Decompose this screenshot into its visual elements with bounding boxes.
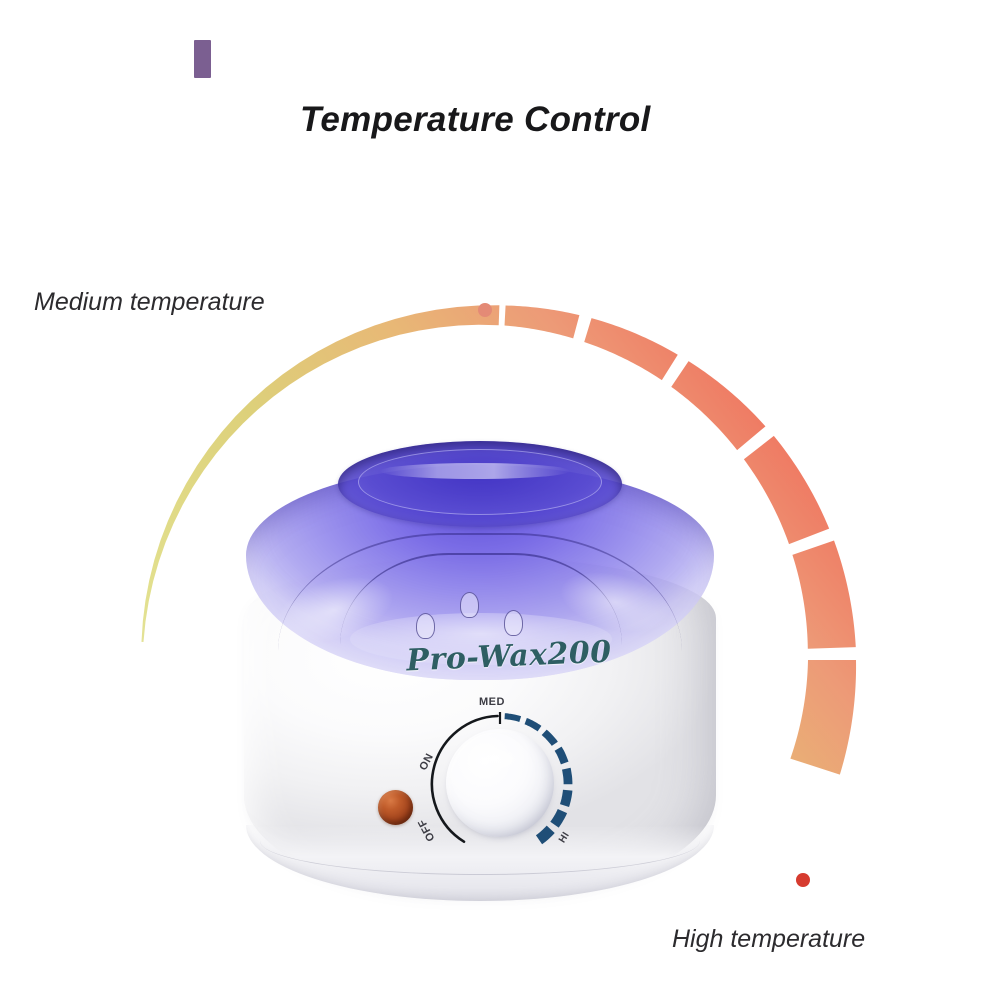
- lid-vent-right: [504, 610, 523, 636]
- seg-7: [790, 660, 856, 775]
- page-title: Temperature Control: [300, 100, 651, 140]
- dial-tick-6: [565, 790, 568, 805]
- lid-vent-left: [416, 613, 435, 639]
- dial-label-med: MED: [479, 696, 505, 708]
- screenshot-canvas: Temperature Control Medium temperature H…: [0, 0, 1000, 1000]
- lid-vent-center: [460, 592, 479, 618]
- lid-collar-highlight: [380, 463, 570, 479]
- dial-arc-dark: [432, 716, 498, 842]
- medium-marker-dot: [478, 303, 492, 317]
- high-marker-dot: [796, 873, 810, 887]
- medium-temperature-label: Medium temperature: [34, 288, 265, 317]
- dial-tick-1: [505, 716, 521, 719]
- wax-warmer-device: Pro-Wax200 MED ON OFF HI: [230, 405, 730, 900]
- seg-2: [505, 305, 580, 338]
- dial-tick-2: [526, 721, 540, 729]
- dial-tick-4: [558, 749, 565, 763]
- seg-5: [744, 436, 829, 544]
- dial-tick-group: [505, 716, 568, 840]
- high-temperature-label: High temperature: [672, 925, 865, 954]
- seg-3: [584, 318, 678, 380]
- dial-tick-3: [544, 732, 555, 744]
- temperature-dial[interactable]: MED ON OFF HI: [416, 700, 584, 868]
- lid-collar-inner-ring: [358, 449, 602, 515]
- dial-tick-5: [566, 769, 568, 785]
- dial-tick-7: [555, 811, 563, 825]
- dial-scale: [416, 700, 584, 868]
- accent-bar: [194, 40, 211, 78]
- power-indicator-lamp: [378, 790, 413, 825]
- dial-tick-8: [539, 829, 551, 839]
- seg-6: [792, 541, 855, 649]
